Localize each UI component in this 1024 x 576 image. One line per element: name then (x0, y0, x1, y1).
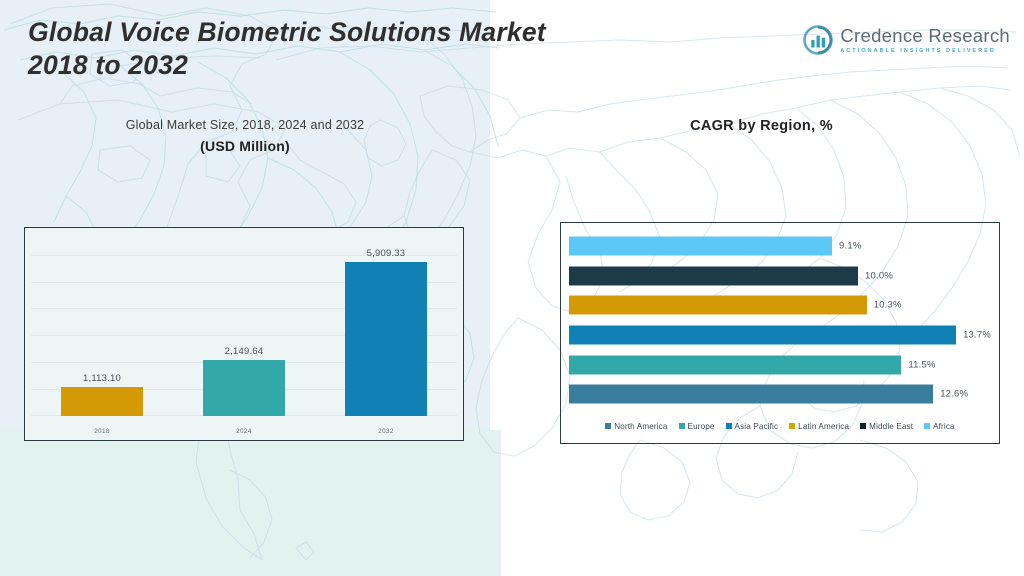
horizontal-bars-plot-area: 9.1%10.0%10.3%13.7%11.5%12.6% (569, 231, 991, 409)
legend-item[interactable]: Africa (924, 422, 955, 431)
legend-swatch-icon (679, 423, 685, 429)
header: Global Voice Biometric Solutions Market … (0, 0, 1024, 96)
credence-research-logo[interactable]: Credence Research Actionable Insights De… (803, 18, 1010, 62)
horizontal-bar[interactable] (569, 385, 933, 404)
bar-row[interactable]: 11.5% (569, 355, 991, 374)
legend-swatch-icon (789, 423, 795, 429)
horizontal-bar[interactable] (569, 266, 858, 285)
title-line-2: 2018 to 2032 (28, 49, 728, 82)
bar-value-label: 9.1% (839, 240, 861, 251)
bar-value-label: 13.7% (963, 329, 991, 340)
page-title: Global Voice Biometric Solutions Market … (28, 16, 728, 82)
bar-row[interactable]: 12.6% (569, 385, 991, 404)
horizontal-bar[interactable] (569, 355, 901, 374)
left-chart-subtitle: (USD Million) (0, 138, 490, 154)
bar-row[interactable]: 10.3% (569, 296, 991, 315)
legend-label: Europe (688, 422, 715, 431)
legend-item[interactable]: Europe (679, 422, 715, 431)
legend-label: Asia Pacific (735, 422, 779, 431)
bar-value-label: 10.0% (865, 270, 893, 281)
legend-swatch-icon (605, 423, 611, 429)
legend-label: Middle East (869, 422, 913, 431)
bar-slot: 1,113.10 (31, 234, 173, 416)
logo-text-block: Credence Research Actionable Insights De… (840, 26, 1010, 55)
bar-value-label: 11.5% (908, 359, 935, 370)
legend-swatch-icon (860, 423, 866, 429)
bar-row[interactable]: 9.1% (569, 236, 991, 255)
cagr-by-region-bar-chart: 9.1%10.0%10.3%13.7%11.5%12.6% North Amer… (560, 222, 1000, 444)
vertical-bar[interactable] (203, 360, 285, 416)
infographic-canvas: Global Voice Biometric Solutions Market … (0, 0, 1024, 576)
market-size-bar-chart: 1,113.102,149.645,909.33 201820242032 (24, 227, 464, 441)
bar-value-label: 12.6% (940, 389, 968, 400)
bar-value-label: 1,113.10 (31, 373, 173, 384)
vertical-bar[interactable] (61, 387, 143, 416)
x-axis-labels: 201820242032 (31, 416, 457, 440)
legend-item[interactable]: North America (605, 422, 667, 431)
horizontal-bar[interactable] (569, 296, 867, 315)
bar-column[interactable] (31, 234, 173, 416)
x-axis-tick-label: 2024 (173, 428, 315, 435)
horizontal-bar[interactable] (569, 236, 832, 255)
left-chart-title: Global Market Size, 2018, 2024 and 2032 (0, 118, 490, 132)
right-chart-title: CAGR by Region, % (523, 118, 1000, 134)
legend-item[interactable]: Latin America (789, 422, 849, 431)
bar-slot: 2,149.64 (173, 234, 315, 416)
logo-company-name: Credence Research (840, 26, 1010, 46)
bar-row[interactable]: 13.7% (569, 325, 991, 344)
bar-row[interactable]: 10.0% (569, 266, 991, 285)
legend-item[interactable]: Asia Pacific (726, 422, 779, 431)
horizontal-bar[interactable] (569, 325, 956, 344)
bar-slot: 5,909.33 (315, 234, 457, 416)
legend-label: Africa (933, 422, 955, 431)
title-line-1: Global Voice Biometric Solutions Market (28, 16, 728, 49)
vertical-bar[interactable] (345, 262, 427, 416)
legend-label: Latin America (798, 422, 849, 431)
legend-swatch-icon (924, 423, 930, 429)
x-axis-tick-label: 2032 (315, 428, 457, 435)
bar-value-label: 5,909.33 (315, 248, 457, 259)
vertical-bars-plot-area: 1,113.102,149.645,909.33 (31, 234, 457, 416)
bar-column[interactable] (173, 234, 315, 416)
legend-item[interactable]: Middle East (860, 422, 913, 431)
x-axis-tick-label: 2018 (31, 428, 173, 435)
legend-label: North America (614, 422, 667, 431)
left-chart-block: Global Market Size, 2018, 2024 and 2032 … (0, 96, 490, 526)
legend-swatch-icon (726, 423, 732, 429)
bar-value-label: 2,149.64 (173, 346, 315, 357)
chart-legend: North AmericaEuropeAsia PacificLatin Ame… (569, 415, 991, 437)
bar-column[interactable] (315, 234, 457, 416)
logo-chart-circle-icon (803, 25, 833, 55)
logo-tagline: Actionable Insights Delivered (840, 47, 1010, 55)
bar-value-label: 10.3% (874, 300, 902, 311)
right-chart-block: CAGR by Region, % 9.1%10.0%10.3%13.7%11.… (523, 96, 1024, 526)
